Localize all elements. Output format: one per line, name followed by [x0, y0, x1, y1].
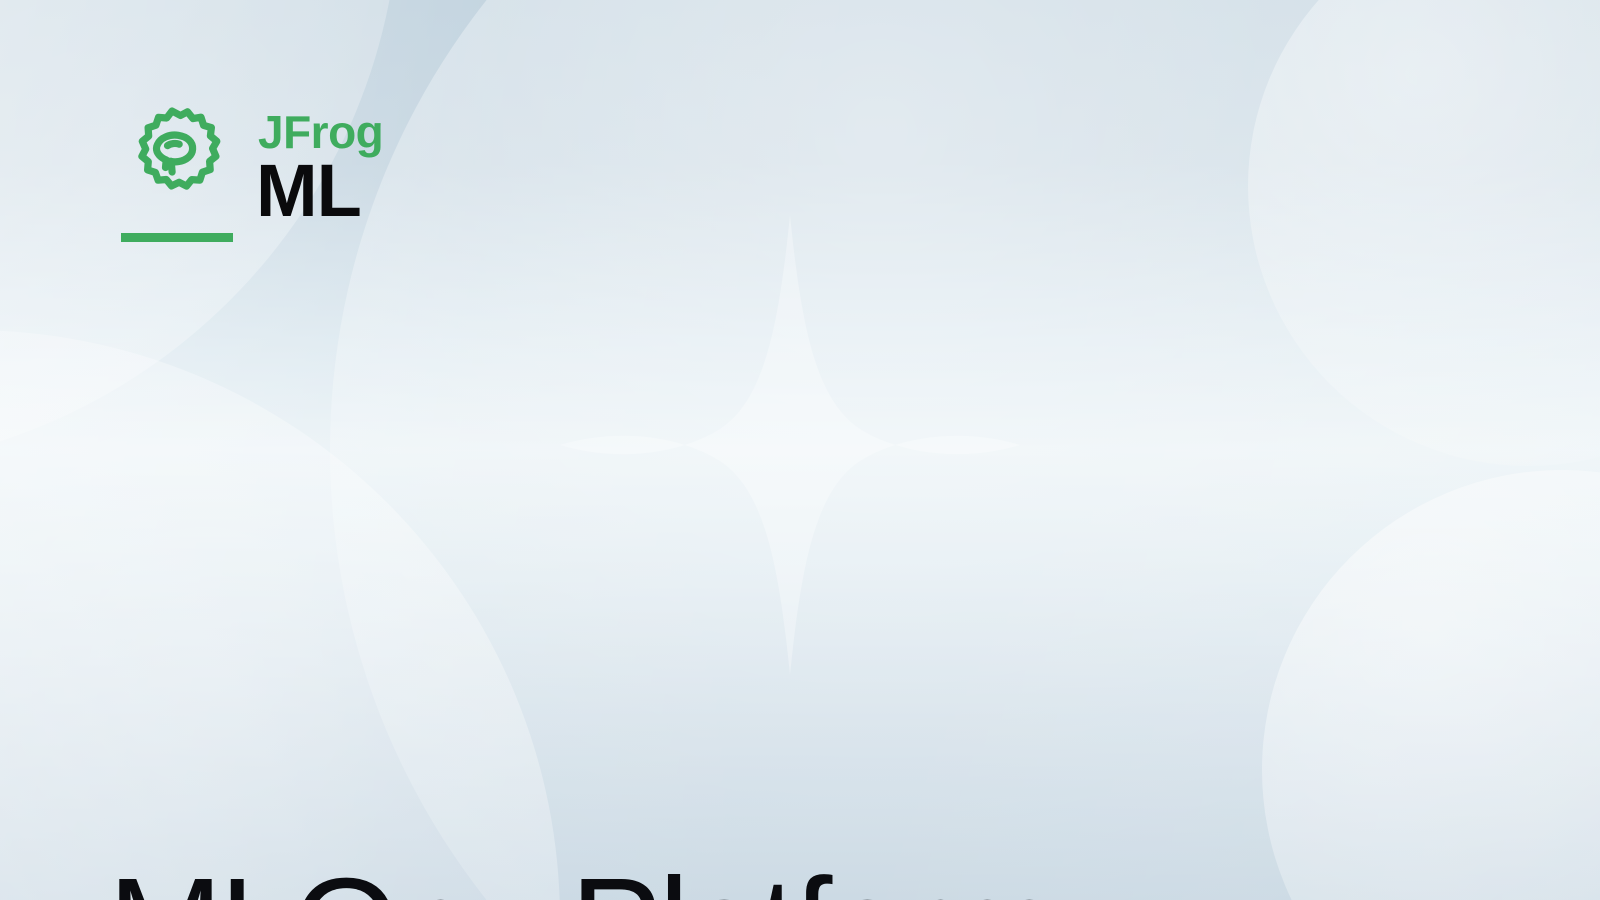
headline-line-1: MLOps Platform — [108, 850, 1268, 900]
accent-rule — [121, 233, 233, 242]
page-title: MLOps Platform Built to Scale. — [108, 540, 1268, 900]
brand-logo: JFrog ML — [118, 104, 398, 249]
hero-banner: JFrog ML MLOps Platform Built to Scale. — [0, 0, 1600, 900]
gear-brain-icon — [118, 104, 226, 212]
product-name: ML — [256, 154, 361, 228]
